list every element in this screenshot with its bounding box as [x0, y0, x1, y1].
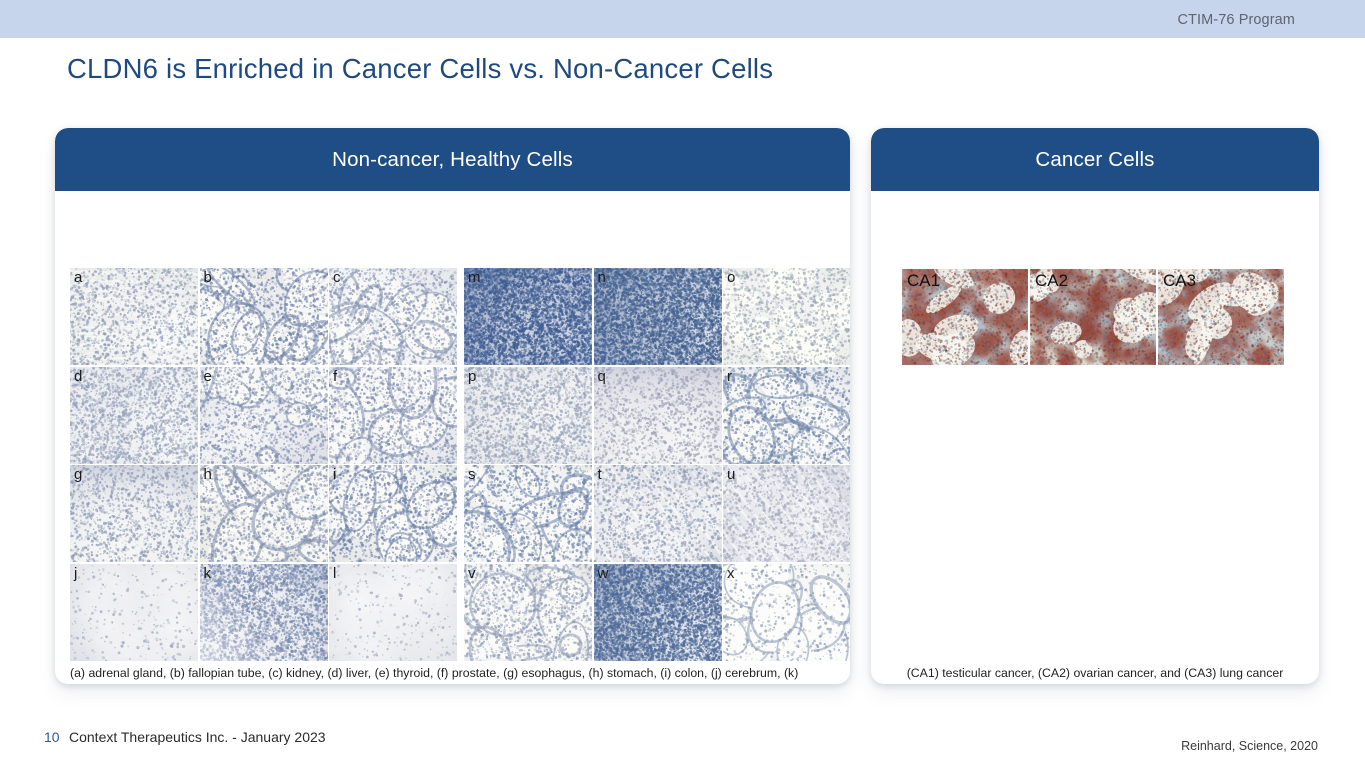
histology-tile-label: j: [74, 565, 77, 584]
cancer-tile-CA2: CA2: [1030, 269, 1156, 365]
histology-tile-label: x: [727, 565, 735, 584]
slide-canvas: CTIM-76 Program CLDN6 is Enriched in Can…: [0, 0, 1365, 768]
histology-tile-label: l: [333, 565, 336, 584]
histology-tile-label: b: [204, 269, 212, 288]
histology-tile-label: v: [468, 565, 476, 584]
histology-subgrid-left: abcdefghijkl: [70, 268, 457, 661]
panel-cancer: Cancer Cells CA1CA2CA3 (CA1) testicular …: [871, 128, 1319, 684]
histology-tile-label: n: [598, 269, 606, 288]
histology-tile-label: s: [468, 466, 476, 485]
histology-tile-label: h: [204, 466, 212, 485]
histology-tile-s: s: [464, 465, 592, 562]
panel-non-cancer-title: Non-cancer, Healthy Cells: [332, 148, 573, 172]
histology-tile-label: i: [333, 466, 336, 485]
histology-tile-label: w: [598, 565, 609, 584]
panel-cancer-header: Cancer Cells: [871, 128, 1319, 191]
top-header-band: [0, 0, 1365, 38]
panel-non-cancer-header: Non-cancer, Healthy Cells: [55, 128, 850, 191]
histology-tile-d: d: [70, 367, 198, 464]
footer-citation: Reinhard, Science, 2020: [1181, 739, 1318, 753]
panel-non-cancer: Non-cancer, Healthy Cells abcdefghijkl m…: [55, 128, 850, 684]
histology-tile-g: g: [70, 465, 198, 562]
histology-tile-label: r: [727, 368, 732, 387]
page-title: CLDN6 is Enriched in Cancer Cells vs. No…: [67, 53, 773, 85]
histology-tile-label: d: [74, 368, 82, 387]
histology-tile-m: m: [464, 268, 592, 365]
histology-tile-label: o: [727, 269, 735, 288]
cancer-tile-CA3: CA3: [1158, 269, 1284, 365]
histology-grid: abcdefghijkl mnopqrstuvwx: [70, 268, 850, 661]
footer-company-line: Context Therapeutics Inc. - January 2023: [69, 729, 326, 745]
histology-tile-e: e: [200, 367, 328, 464]
histology-tile-c: c: [329, 268, 457, 365]
histology-tile-k: k: [200, 564, 328, 661]
program-label: CTIM-76 Program: [1177, 12, 1295, 28]
panel-non-cancer-caption: (a) adrenal gland, (b) fallopian tube, (…: [70, 665, 830, 684]
histology-tile-l: l: [329, 564, 457, 661]
cancer-tile-label: CA1: [907, 271, 940, 291]
histology-tile-h: h: [200, 465, 328, 562]
histology-tile-o: o: [723, 268, 850, 365]
cancer-tile-label: CA2: [1035, 271, 1068, 291]
histology-tile-x: x: [723, 564, 850, 661]
footer-page-number: 10: [44, 729, 60, 745]
histology-tile-label: p: [468, 368, 476, 387]
histology-tile-b: b: [200, 268, 328, 365]
histology-tile-label: k: [204, 565, 212, 584]
histology-tile-label: m: [468, 269, 481, 288]
histology-tile-label: q: [598, 368, 606, 387]
histology-tile-v: v: [464, 564, 592, 661]
histology-tile-f: f: [329, 367, 457, 464]
histology-tile-label: t: [598, 466, 602, 485]
histology-tile-q: q: [594, 367, 722, 464]
histology-tile-t: t: [594, 465, 722, 562]
cancer-tile-CA1: CA1: [902, 269, 1028, 365]
histology-tile-label: c: [333, 269, 341, 288]
histology-tile-w: w: [594, 564, 722, 661]
cancer-image-row: CA1CA2CA3: [902, 269, 1284, 365]
histology-tile-u: u: [723, 465, 850, 562]
histology-tile-label: g: [74, 466, 82, 485]
panel-cancer-caption: (CA1) testicular cancer, (CA2) ovarian c…: [871, 665, 1319, 681]
histology-tile-i: i: [329, 465, 457, 562]
histology-tile-label: a: [74, 269, 82, 288]
histology-tile-n: n: [594, 268, 722, 365]
histology-tile-label: u: [727, 466, 735, 485]
histology-subgrid-right: mnopqrstuvwx: [464, 268, 850, 661]
histology-tile-r: r: [723, 367, 850, 464]
histology-tile-p: p: [464, 367, 592, 464]
histology-tile-label: f: [333, 368, 337, 387]
cancer-tile-label: CA3: [1163, 271, 1196, 291]
histology-tile-label: e: [204, 368, 212, 387]
histology-tile-a: a: [70, 268, 198, 365]
panel-cancer-title: Cancer Cells: [1035, 148, 1154, 172]
histology-tile-j: j: [70, 564, 198, 661]
